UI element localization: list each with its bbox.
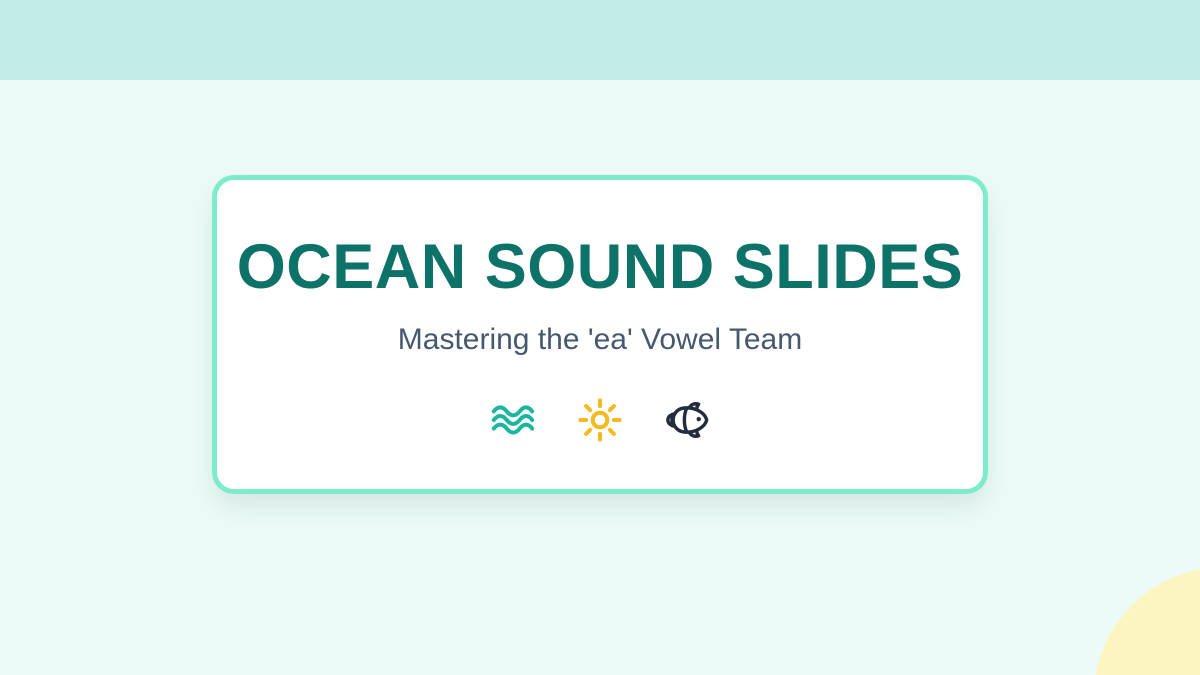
page-title: OCEAN SOUND SLIDES [237,236,964,299]
waves-icon [489,397,535,443]
page-subtitle: Mastering the 'ea' Vowel Team [398,325,802,355]
title-card: OCEAN SOUND SLIDES Mastering the 'ea' Vo… [212,175,988,494]
slide-canvas: OCEAN SOUND SLIDES Mastering the 'ea' Vo… [0,0,1200,675]
sun-icon [577,397,623,443]
icon-row [489,397,711,443]
fish-icon [665,397,711,443]
top-decorative-band [0,0,1200,80]
corner-decorative-circle [1094,567,1200,675]
